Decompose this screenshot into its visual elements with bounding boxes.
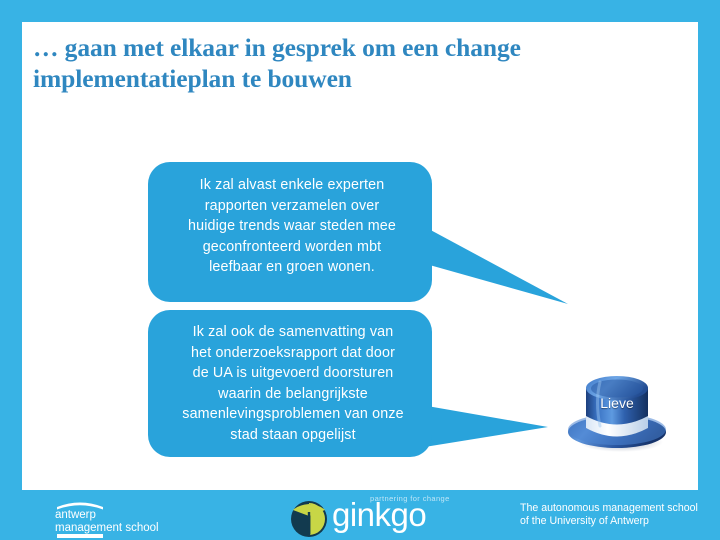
speech-bubble-2[interactable]: Ik zal ook de samenvatting van het onder…	[148, 310, 568, 462]
ginkgo-logo[interactable]: partnering for change ginkgo	[288, 492, 468, 540]
ams-logo-line-2: management school	[55, 522, 159, 535]
top-hat-icon	[564, 366, 670, 454]
ams-logo[interactable]: antwerp management school	[55, 498, 225, 540]
footer-tagline: The autonomous management school of the …	[520, 502, 710, 528]
page-title: … gaan met elkaar in gesprek om een chan…	[33, 32, 653, 94]
ginkgo-wordmark: ginkgo	[332, 496, 426, 534]
footer: antwerp management school partnering for…	[0, 490, 720, 540]
ams-logo-text: antwerp management school	[55, 509, 159, 534]
page-title-line-1: … gaan met elkaar in gesprek om een chan…	[33, 32, 653, 63]
footer-tagline-line-2: of the University of Antwerp	[520, 515, 710, 528]
speech-bubble-1[interactable]: Ik zal alvast enkele experten rapporten …	[148, 162, 568, 307]
ginkgo-leaf-icon	[288, 498, 330, 540]
ams-logo-line-1: antwerp	[55, 509, 159, 522]
avatar[interactable]: Lieve	[564, 366, 670, 454]
speech-bubble-2-text: Ik zal ook de samenvatting van het onder…	[158, 322, 428, 445]
speech-bubble-1-text: Ik zal alvast enkele experten rapporten …	[162, 175, 422, 278]
slide: … gaan met elkaar in gesprek om een chan…	[0, 0, 720, 540]
footer-tagline-line-1: The autonomous management school	[520, 502, 710, 515]
page-title-line-2: implementatieplan te bouwen	[33, 63, 653, 94]
